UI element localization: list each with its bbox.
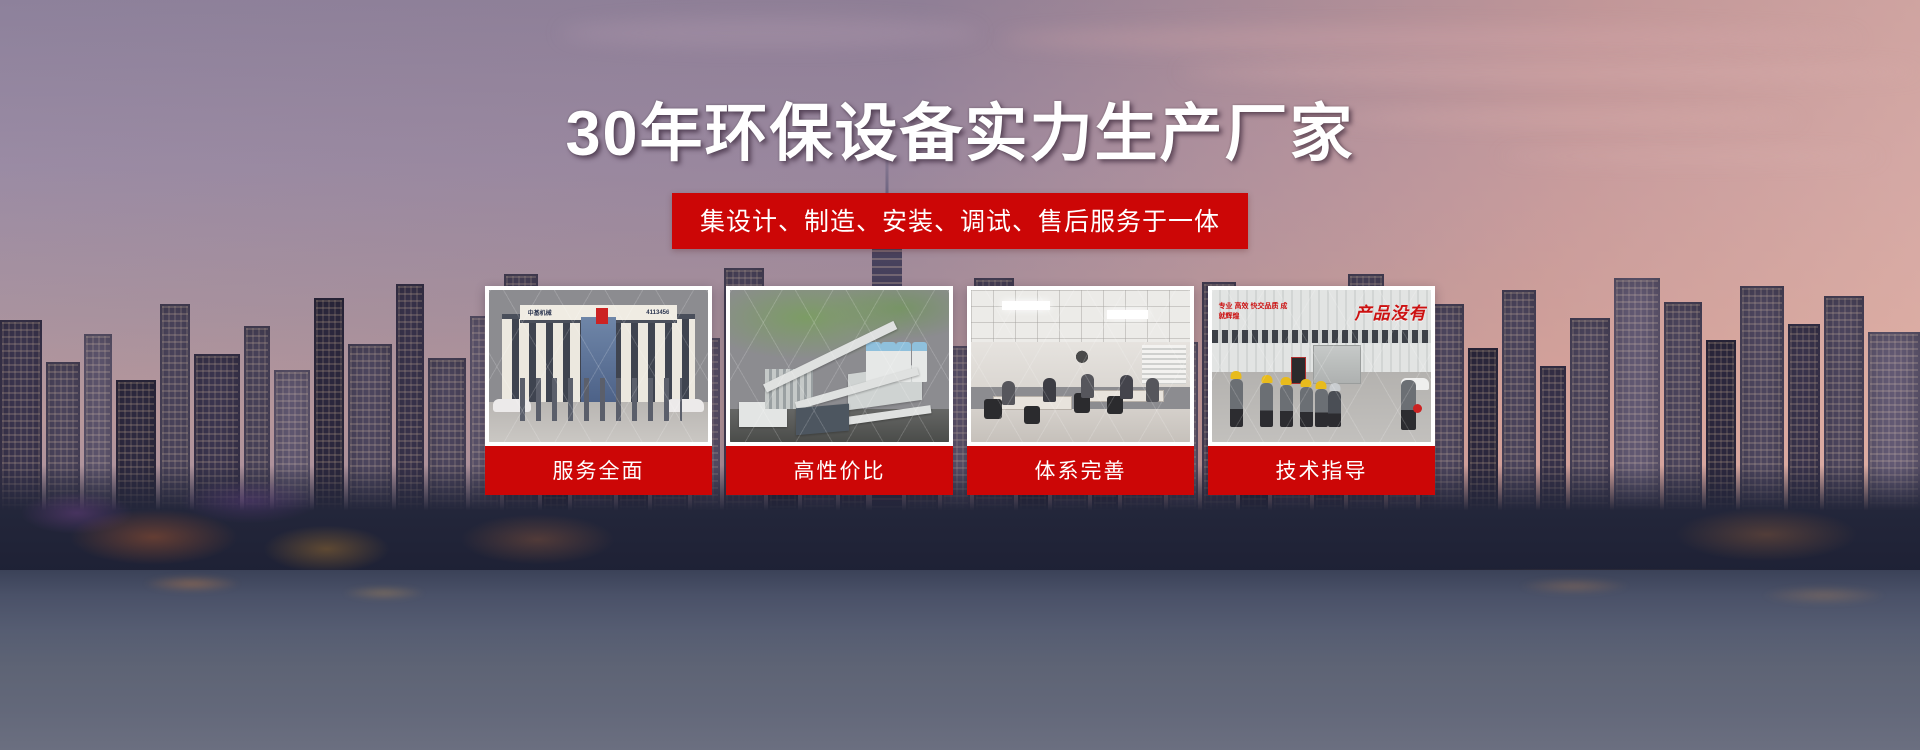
page-title: 30年环保设备实力生产厂家 <box>565 103 1354 166</box>
wall-logo-icon <box>1067 348 1097 370</box>
feature-card-label: 服务全面 <box>485 446 712 495</box>
feature-card[interactable]: 高性价比 <box>726 286 953 495</box>
building-phone-text: 4113456 <box>646 310 669 316</box>
factory-wall-sign: 产品没有 <box>1322 296 1427 326</box>
feature-card-label: 体系完善 <box>967 446 1194 495</box>
building-sign-text: 中基机械 <box>528 308 552 317</box>
feature-card-list: 中基机械 4113456 服务全面 <box>485 286 1435 495</box>
subtitle-banner: 集设计、制造、安装、调试、售后服务于一体 <box>672 193 1248 249</box>
company-office-building-with-staff-photo: 中基机械 4113456 <box>489 290 708 442</box>
office-interior-with-employees-photo <box>971 290 1190 442</box>
feature-card-label: 技术指导 <box>1208 446 1435 495</box>
feature-card[interactable]: 体系完善 <box>967 286 1194 495</box>
workers-in-front-of-factory-photo: 产品没有 专业 高效 快交品质 成就辉煌 <box>1212 290 1431 442</box>
feature-card[interactable]: 中基机械 4113456 服务全面 <box>485 286 712 495</box>
aerial-view-industrial-plant-photo <box>730 290 949 442</box>
hero-banner: 30年环保设备实力生产厂家 集设计、制造、安装、调试、售后服务于一体 中基机械 … <box>0 0 1920 750</box>
supervisor-figure <box>1401 380 1416 430</box>
feature-card-label: 高性价比 <box>726 446 953 495</box>
feature-card[interactable]: 产品没有 专业 高效 快交品质 成就辉煌 技术指导 <box>1208 286 1435 495</box>
flag-icon <box>596 308 608 324</box>
